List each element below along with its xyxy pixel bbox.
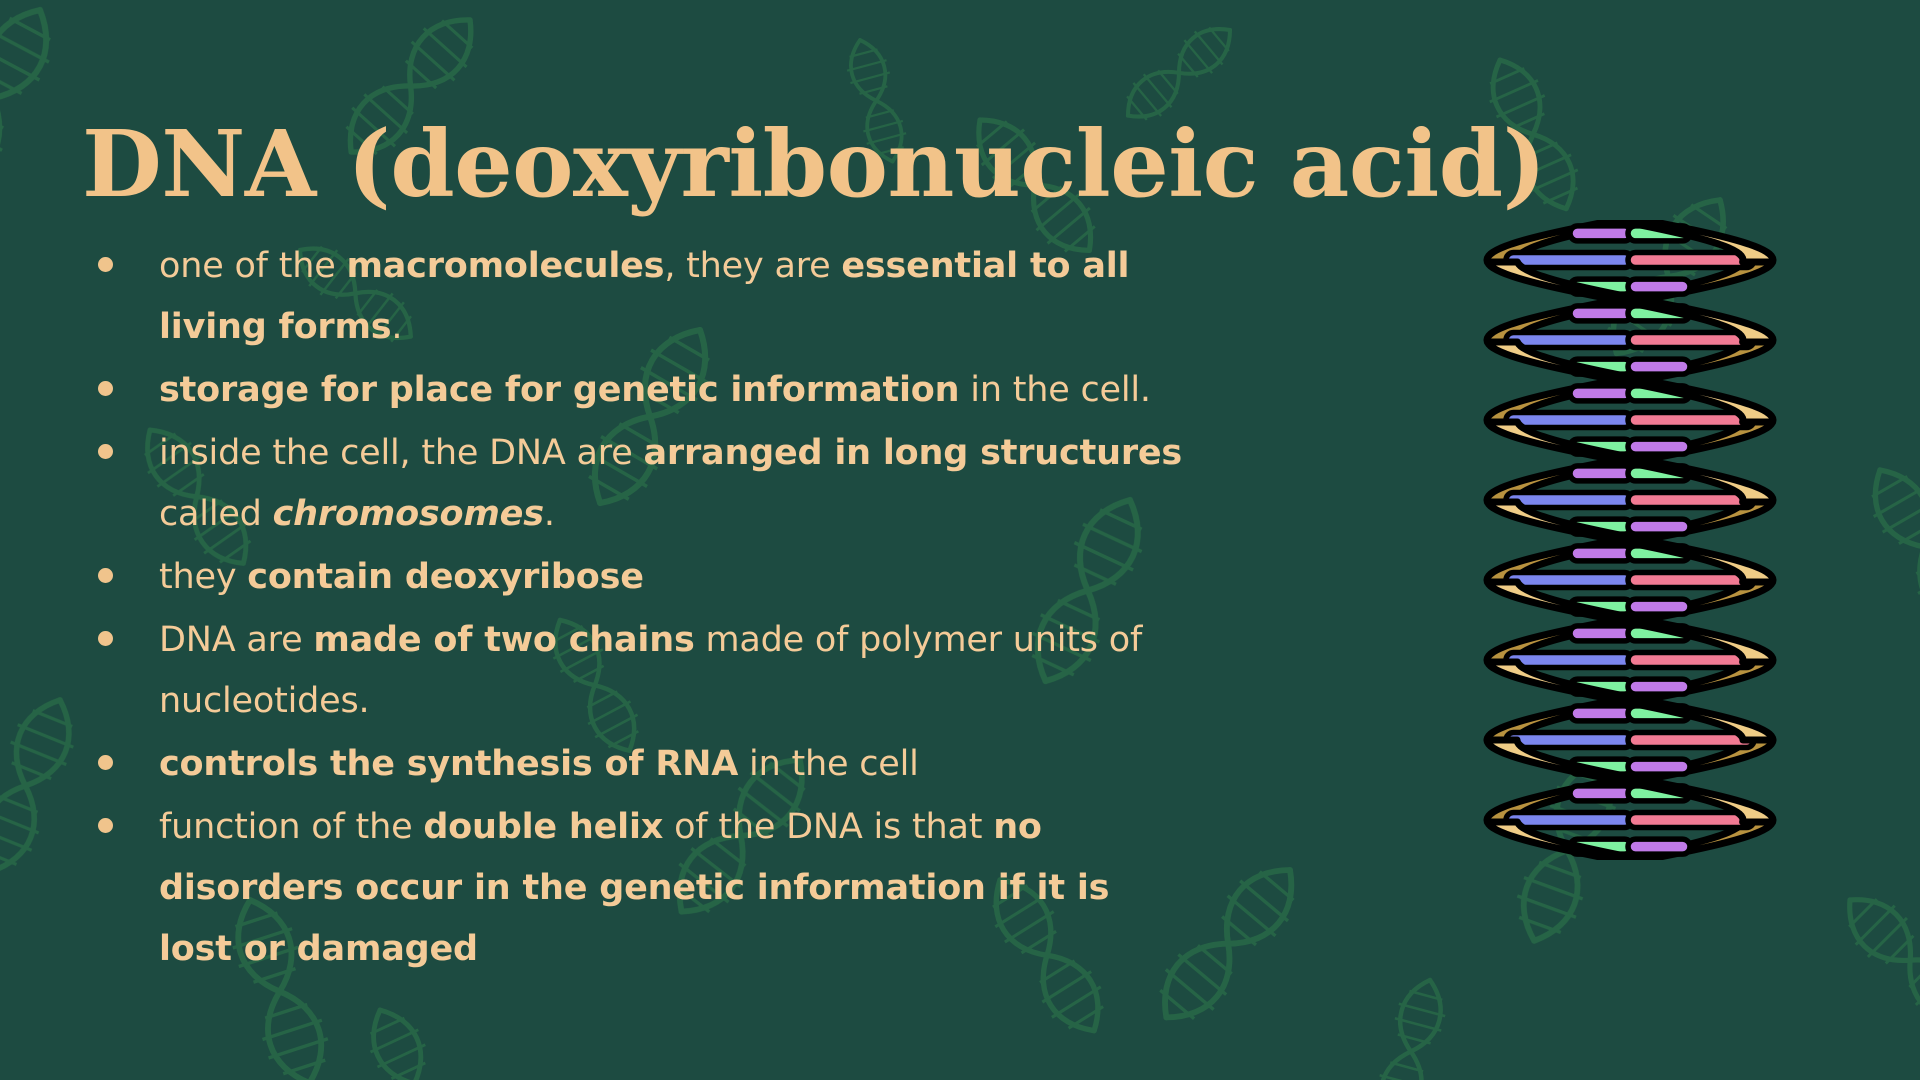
slide-canvas: DNA (deoxyribonucleic acid) one of the m…: [0, 0, 1920, 1080]
bullet-macromolecules: one of the macromolecules, they are esse…: [159, 236, 1188, 358]
bullet-macromolecules-run-4: .: [391, 307, 402, 347]
bullet-chromosomes-run-0: inside the cell, the DNA are: [159, 433, 643, 473]
bullet-double-helix-function: function of the double helix of the DNA …: [159, 797, 1188, 980]
dna-base-pair-19: [1506, 733, 1754, 748]
base-purple: [1570, 386, 1632, 401]
bullet-macromolecules-run-1: macromolecules: [346, 246, 664, 286]
dna-base-pair-10: [1506, 493, 1754, 508]
bullet-macromolecules-run-0: one of the: [159, 246, 346, 286]
base-purple: [1628, 679, 1690, 694]
bullet-deoxyribose: they contain deoxyribose: [159, 547, 1188, 608]
base-purple: [1628, 439, 1690, 454]
list-item: they contain deoxyribose: [98, 547, 1188, 608]
bullet-two-chains: DNA are made of two chains made of polym…: [159, 610, 1188, 732]
base-purple: [1628, 759, 1690, 774]
bullet-chromosomes: inside the cell, the DNA are arranged in…: [159, 423, 1188, 545]
base-purple: [1628, 359, 1690, 374]
bullet-list: one of the macromolecules, they are esse…: [98, 236, 1188, 982]
list-item: one of the macromolecules, they are esse…: [98, 236, 1188, 358]
base-purple: [1570, 466, 1632, 481]
bullet-deoxyribose-run-1: contain deoxyribose: [247, 557, 644, 597]
bullet-dot-icon: [98, 818, 113, 833]
bullet-rna-synthesis: controls the synthesis of RNA in the cel…: [159, 734, 1188, 795]
base-purple: [1570, 786, 1632, 801]
bullet-two-chains-run-1: made of two chains: [313, 620, 694, 660]
list-item: storage for place for genetic informatio…: [98, 360, 1188, 421]
page-title: DNA (deoxyribonucleic acid): [82, 118, 1546, 212]
base-purple: [1570, 706, 1632, 721]
bullet-macromolecules-run-2: , they are: [664, 246, 841, 286]
base-purple: [1628, 279, 1690, 294]
base-purple: [1570, 546, 1632, 561]
bullet-double-helix-function-run-2: of the DNA is that: [663, 807, 993, 847]
bullet-dot-icon: [98, 381, 113, 396]
dna-base-pair-16: [1506, 653, 1754, 668]
list-item: inside the cell, the DNA are arranged in…: [98, 423, 1188, 545]
bullet-storage-run-1: in the cell.: [959, 370, 1150, 410]
bullet-storage-run-0: storage for place for genetic informatio…: [159, 370, 959, 410]
bullet-dot-icon: [98, 631, 113, 646]
bullet-deoxyribose-run-0: they: [159, 557, 247, 597]
base-purple: [1570, 226, 1632, 241]
base-purple: [1570, 626, 1632, 641]
dna-base-pair-1: [1506, 253, 1754, 268]
dna-double-helix-illustration: [1420, 220, 1840, 860]
bullet-chromosomes-run-3: chromosomes: [273, 494, 544, 534]
bullet-chromosomes-run-2: called: [159, 494, 273, 534]
base-purple: [1628, 599, 1690, 614]
bullet-double-helix-function-run-1: double helix: [423, 807, 663, 847]
base-purple: [1570, 306, 1632, 321]
dna-base-pair-7: [1506, 413, 1754, 428]
bullet-dot-icon: [98, 568, 113, 583]
bullet-rna-synthesis-run-1: in the cell: [738, 744, 919, 784]
bullet-dot-icon: [98, 755, 113, 770]
bullet-storage: storage for place for genetic informatio…: [159, 360, 1188, 421]
list-item: DNA are made of two chains made of polym…: [98, 610, 1188, 732]
dna-base-pair-4: [1506, 333, 1754, 348]
bullet-two-chains-run-0: DNA are: [159, 620, 313, 660]
bullet-rna-synthesis-run-0: controls the synthesis of RNA: [159, 744, 738, 784]
list-item: function of the double helix of the DNA …: [98, 797, 1188, 980]
bullet-dot-icon: [98, 444, 113, 459]
dna-base-pair-13: [1506, 573, 1754, 588]
bullet-chromosomes-run-1: arranged in long structures: [643, 433, 1182, 473]
dna-base-pair-22: [1506, 813, 1754, 828]
bullet-dot-icon: [98, 257, 113, 272]
base-purple: [1628, 519, 1690, 534]
list-item: controls the synthesis of RNA in the cel…: [98, 734, 1188, 795]
bullet-double-helix-function-run-0: function of the: [159, 807, 423, 847]
base-purple: [1628, 839, 1690, 854]
bullet-chromosomes-run-4: .: [544, 494, 555, 534]
